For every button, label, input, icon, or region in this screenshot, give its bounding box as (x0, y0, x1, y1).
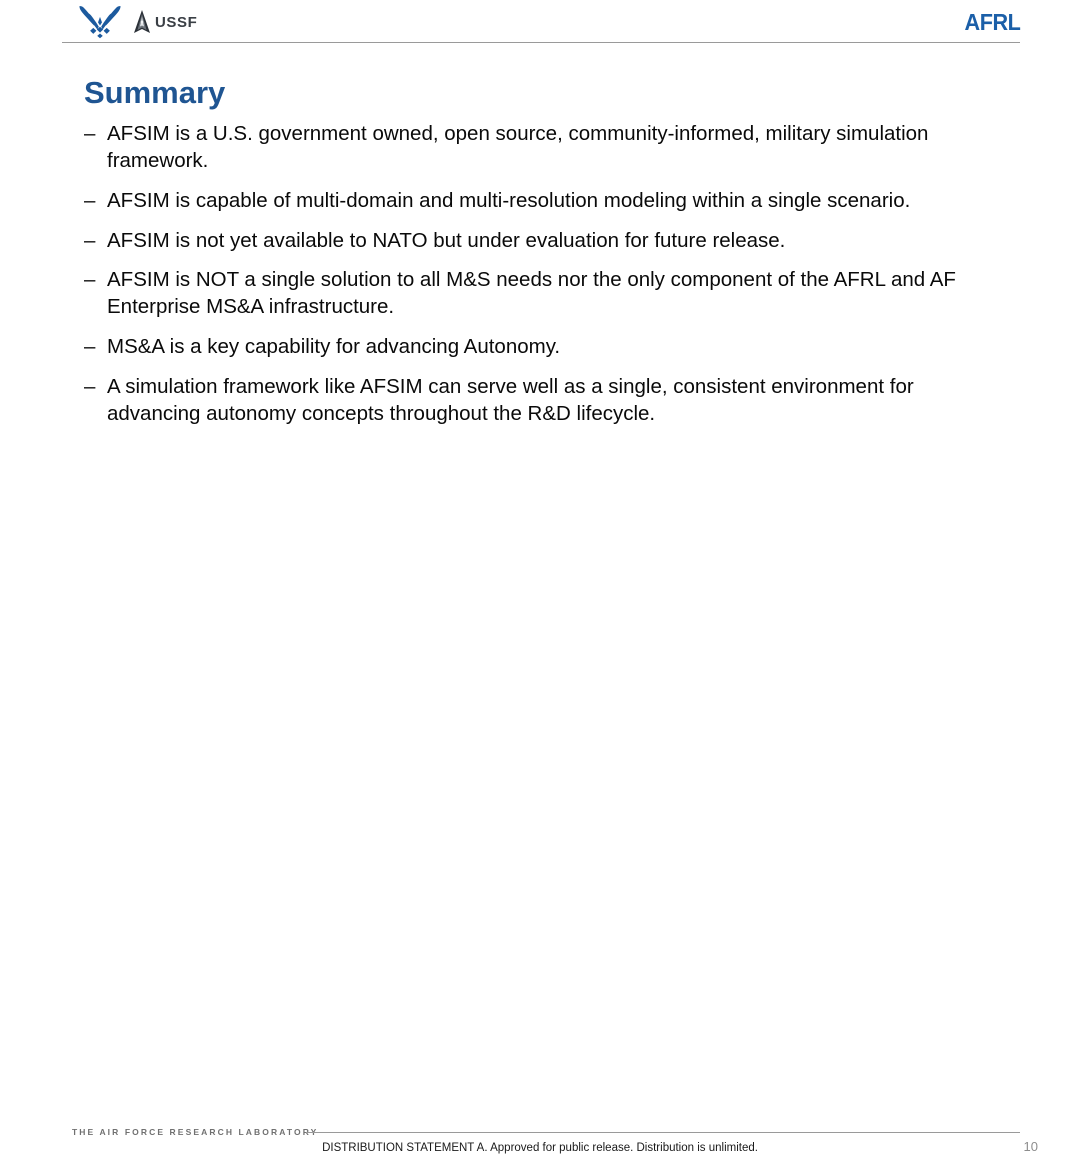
footer-divider (306, 1132, 1020, 1133)
bullet-marker: – (84, 374, 95, 401)
summary-bullet-list: – AFSIM is a U.S. government owned, open… (84, 121, 1000, 428)
list-item: – A simulation framework like AFSIM can … (84, 374, 1000, 428)
header-divider (62, 42, 1020, 43)
afrl-wordmark: AFRL (964, 11, 1020, 34)
space-force-delta-icon (131, 10, 153, 36)
slide-footer: THE AIR FORCE RESEARCH LABORATORY DISTRI… (0, 556, 1080, 606)
space-force-logo: USSF (131, 9, 197, 36)
list-item: – AFSIM is NOT a single solution to all … (84, 267, 1000, 321)
bullet-marker: – (84, 267, 95, 294)
ussf-wordmark: USSF (155, 15, 197, 30)
list-item: – MS&A is a key capability for advancing… (84, 334, 1000, 361)
page-number: 10 (1024, 1139, 1038, 1154)
bullet-text: MS&A is a key capability for advancing A… (107, 334, 1000, 361)
list-item: – AFSIM is a U.S. government owned, open… (84, 121, 1000, 175)
afrl-tagline: THE AIR FORCE RESEARCH LABORATORY (72, 1127, 318, 1137)
bullet-marker: – (84, 334, 95, 361)
list-item: – AFSIM is not yet available to NATO but… (84, 228, 1000, 255)
list-item: – AFSIM is capable of multi-domain and m… (84, 188, 1000, 215)
page-title: Summary (84, 74, 225, 111)
slide-header: USSF AFRL (0, 0, 1080, 44)
bullet-text: AFSIM is a U.S. government owned, open s… (107, 121, 1000, 175)
bullet-text: A simulation framework like AFSIM can se… (107, 374, 1000, 428)
bullet-marker: – (84, 121, 95, 148)
bullet-text: AFSIM is NOT a single solution to all M&… (107, 267, 1000, 321)
slide-canvas: USSF AFRL Summary – AFSIM is a U.S. gove… (0, 0, 1080, 606)
air-force-wings-icon (78, 5, 122, 39)
distribution-statement: DISTRIBUTION STATEMENT A. Approved for p… (0, 1142, 1080, 1154)
bullet-marker: – (84, 188, 95, 215)
bullet-marker: – (84, 228, 95, 255)
bullet-text: AFSIM is not yet available to NATO but u… (107, 228, 1000, 255)
bullet-text: AFSIM is capable of multi-domain and mul… (107, 188, 1000, 215)
